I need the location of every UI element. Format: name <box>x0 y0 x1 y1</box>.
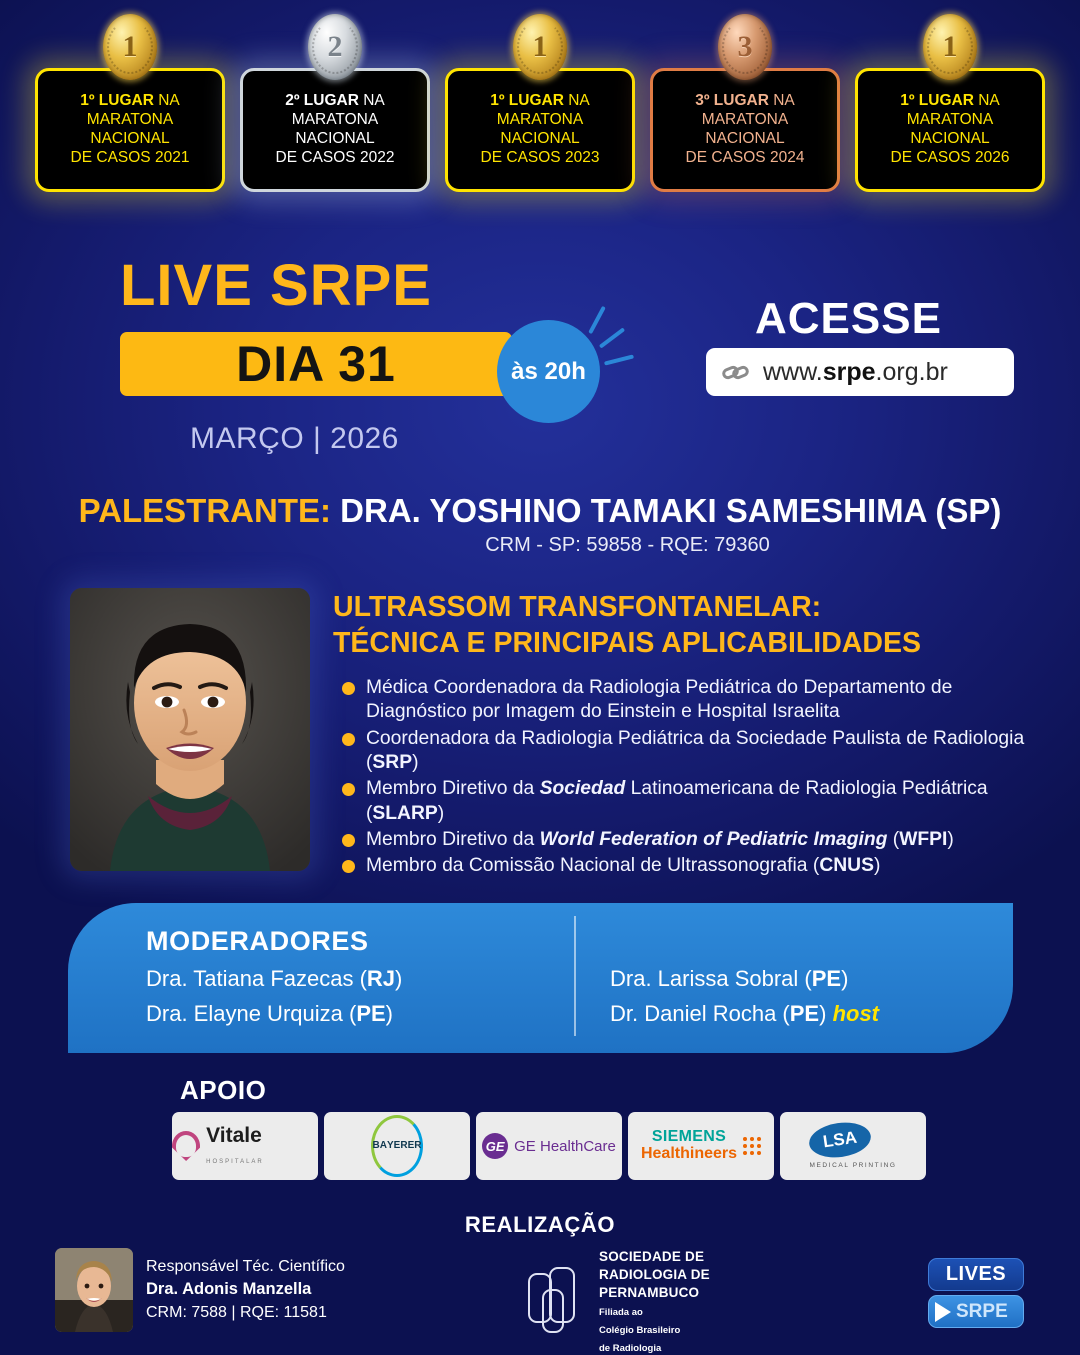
bio-bullet: Membro Diretivo da World Federation of P… <box>340 828 1052 852</box>
lsa-badge-icon: LSA <box>807 1119 873 1161</box>
speaker-line: PALESTRANTE: DRA. YOSHINO TAMAKI SAMESHI… <box>0 492 1080 530</box>
portrait-illustration <box>70 588 310 871</box>
wreath-icon <box>312 20 358 74</box>
award-line: DE CASOS 2022 <box>276 149 395 168</box>
wreath-icon <box>927 20 973 74</box>
award-line: DE CASOS 2021 <box>71 149 190 168</box>
lecture-title-line2: TÉCNICA E PRINCIPAIS APLICABILIDADES <box>333 626 1053 662</box>
lives-srpe-row: SRPE <box>928 1295 1024 1328</box>
event-brand-title: LIVE SRPE <box>120 252 432 319</box>
award-plate: 1º LUGAR NAMARATONANACIONALDE CASOS 2021 <box>35 68 225 192</box>
moderator-name: Dra. Tatiana Fazecas (RJ) <box>146 968 402 990</box>
award-badge: 33º LUGAR NAMARATONANACIONALDE CASOS 202… <box>650 14 840 200</box>
moderators-divider <box>574 916 576 1036</box>
sunburst-ray-icon <box>588 306 606 334</box>
bronze-medal-icon: 3 <box>718 14 772 80</box>
gold-medal-icon: 1 <box>513 14 567 80</box>
award-plate: 2º LUGAR NAMARATONANACIONALDE CASOS 2022 <box>240 68 430 192</box>
event-day-banner: DIA 31 <box>120 332 512 396</box>
speaker-credentials: CRM - SP: 59858 - RQE: 79360 <box>0 534 1080 557</box>
event-day-text: DIA 31 <box>236 335 396 393</box>
award-line: MARATONA <box>292 111 378 130</box>
moderators-left-column: Dra. Tatiana Fazecas (RJ)Dra. Elayne Urq… <box>146 968 402 1038</box>
award-line: MARATONA <box>497 111 583 130</box>
link-icon <box>722 361 752 383</box>
award-line: 2º LUGAR NA <box>285 92 385 111</box>
srpe-mark-icon <box>528 1267 590 1337</box>
event-hour-badge: às 20h <box>497 320 600 423</box>
bio-bullet: Coordenadora da Radiologia Pediátrica da… <box>340 727 1052 776</box>
srpe-organization-logo: SOCIEDADE DE RADIOLOGIA DE PERNAMBUCO Fi… <box>528 1248 710 1355</box>
award-line: 1º LUGAR NA <box>900 92 1000 111</box>
gold-medal-icon: 1 <box>923 14 977 80</box>
sponsor-logo-ge-healthcare[interactable]: GE GE HealthCare <box>476 1112 622 1180</box>
responsible-avatar <box>55 1248 133 1332</box>
award-line: MARATONA <box>907 111 993 130</box>
ge-monogram-icon: GE <box>482 1133 508 1159</box>
lives-srpe-label: SRPE <box>956 1301 1008 1323</box>
access-heading: ACESSE <box>755 294 942 344</box>
moderator-name: Dra. Elayne Urquiza (PE) <box>146 1003 402 1025</box>
award-line: NACIONAL <box>90 130 169 149</box>
speaker-label: PALESTRANTE: <box>79 492 331 529</box>
award-badge: 11º LUGAR NAMARATONANACIONALDE CASOS 202… <box>855 14 1045 200</box>
sponsor-logo-siemens-healthineers[interactable]: SIEMENS Healthineers <box>628 1112 774 1180</box>
vitale-wordmark: Vitale HOSPITALAR <box>206 1125 318 1167</box>
award-line: NACIONAL <box>295 130 374 149</box>
lives-label: LIVES <box>928 1258 1024 1291</box>
award-line: DE CASOS 2023 <box>481 149 600 168</box>
sunburst-ray-icon <box>599 327 625 348</box>
moderators-right-column: Dra. Larissa Sobral (PE)Dr. Daniel Rocha… <box>610 968 879 1038</box>
poster-background: 11º LUGAR NAMARATONANACIONALDE CASOS 202… <box>0 0 1080 1350</box>
awards-row: 11º LUGAR NAMARATONANACIONALDE CASOS 202… <box>0 14 1080 214</box>
moderators-title: MODERADORES <box>146 926 369 957</box>
wreath-icon <box>107 20 153 74</box>
silver-medal-icon: 2 <box>308 14 362 80</box>
sponsor-logo-lsa[interactable]: LSA MEDICAL PRINTING <box>780 1112 926 1180</box>
award-line: DE CASOS 2024 <box>686 149 805 168</box>
moderator-name: Dr. Daniel Rocha (PE) host <box>610 1003 879 1025</box>
bio-bullet: Médica Coordenadora da Radiologia Pediát… <box>340 676 1052 725</box>
award-badge: 11º LUGAR NAMARATONANACIONALDE CASOS 202… <box>35 14 225 200</box>
lecture-title-line1: ULTRASSOM TRANSFONTANELAR: <box>333 590 1053 626</box>
responsible-text: Responsável Téc. Científico Dra. Adonis … <box>146 1256 345 1323</box>
play-icon <box>935 1302 951 1322</box>
sunburst-ray-icon <box>604 354 634 365</box>
speaker-bio-list: Médica Coordenadora da Radiologia Pediát… <box>340 676 1052 881</box>
wreath-icon <box>722 20 768 74</box>
ge-wordmark: GE HealthCare <box>514 1138 616 1155</box>
award-plate: 3º LUGAR NAMARATONANACIONALDE CASOS 2024 <box>650 68 840 192</box>
speaker-name: DRA. YOSHINO TAMAKI SAMESHIMA (SP) <box>340 492 1001 529</box>
award-plate: 1º LUGAR NAMARATONANACIONALDE CASOS 2023 <box>445 68 635 192</box>
gold-medal-icon: 1 <box>103 14 157 80</box>
website-url-text: www.srpe.org.br <box>763 358 948 387</box>
lsa-wordmark: LSA MEDICAL PRINTING <box>809 1123 896 1169</box>
moderator-name: Dra. Larissa Sobral (PE) <box>610 968 879 990</box>
responsible-portrait-illustration <box>55 1248 133 1332</box>
sponsor-logo-bayer[interactable]: BAYERER <box>324 1112 470 1180</box>
award-line: NACIONAL <box>705 130 784 149</box>
bio-bullet: Membro Diretivo da Sociedad Latinoameric… <box>340 777 1052 826</box>
award-badge: 11º LUGAR NAMARATONANACIONALDE CASOS 202… <box>445 14 635 200</box>
award-badge: 22º LUGAR NAMARATONANACIONALDE CASOS 202… <box>240 14 430 200</box>
award-line: NACIONAL <box>500 130 579 149</box>
siemens-dots-icon <box>743 1137 761 1155</box>
siemens-wordmark: SIEMENS Healthineers <box>641 1129 737 1163</box>
support-label: APOIO <box>180 1075 266 1106</box>
realization-label: REALIZAÇÃO <box>0 1212 1080 1238</box>
award-line: NACIONAL <box>910 130 989 149</box>
speaker-portrait <box>70 588 310 871</box>
award-line: MARATONA <box>87 111 173 130</box>
award-line: MARATONA <box>702 111 788 130</box>
bio-bullet: Membro da Comissão Nacional de Ultrasson… <box>340 854 1052 878</box>
lecture-title: ULTRASSOM TRANSFONTANELAR: TÉCNICA E PRI… <box>333 590 1053 661</box>
sponsor-logos: Vitale HOSPITALAR BAYERER GE GE HealthCa… <box>172 1112 926 1180</box>
lives-srpe-badge[interactable]: LIVES SRPE <box>928 1258 1024 1328</box>
award-line: 1º LUGAR NA <box>490 92 590 111</box>
award-line: 3º LUGAR NA <box>695 92 795 111</box>
event-month-year: MARÇO | 2026 <box>190 422 399 456</box>
vitale-mark-icon <box>172 1131 200 1161</box>
responsible-credit: Responsável Téc. Científico Dra. Adonis … <box>55 1248 345 1332</box>
award-line: DE CASOS 2026 <box>891 149 1010 168</box>
award-plate: 1º LUGAR NAMARATONANACIONALDE CASOS 2026 <box>855 68 1045 192</box>
srpe-wordmark: SOCIEDADE DE RADIOLOGIA DE PERNAMBUCO Fi… <box>599 1248 710 1355</box>
sponsor-logo-vitale[interactable]: Vitale HOSPITALAR <box>172 1112 318 1180</box>
award-line: 1º LUGAR NA <box>80 92 180 111</box>
website-url-pill[interactable]: www.srpe.org.br <box>706 348 1014 396</box>
bayer-cross-icon: BAYERER <box>371 1115 423 1177</box>
wreath-icon <box>517 20 563 74</box>
